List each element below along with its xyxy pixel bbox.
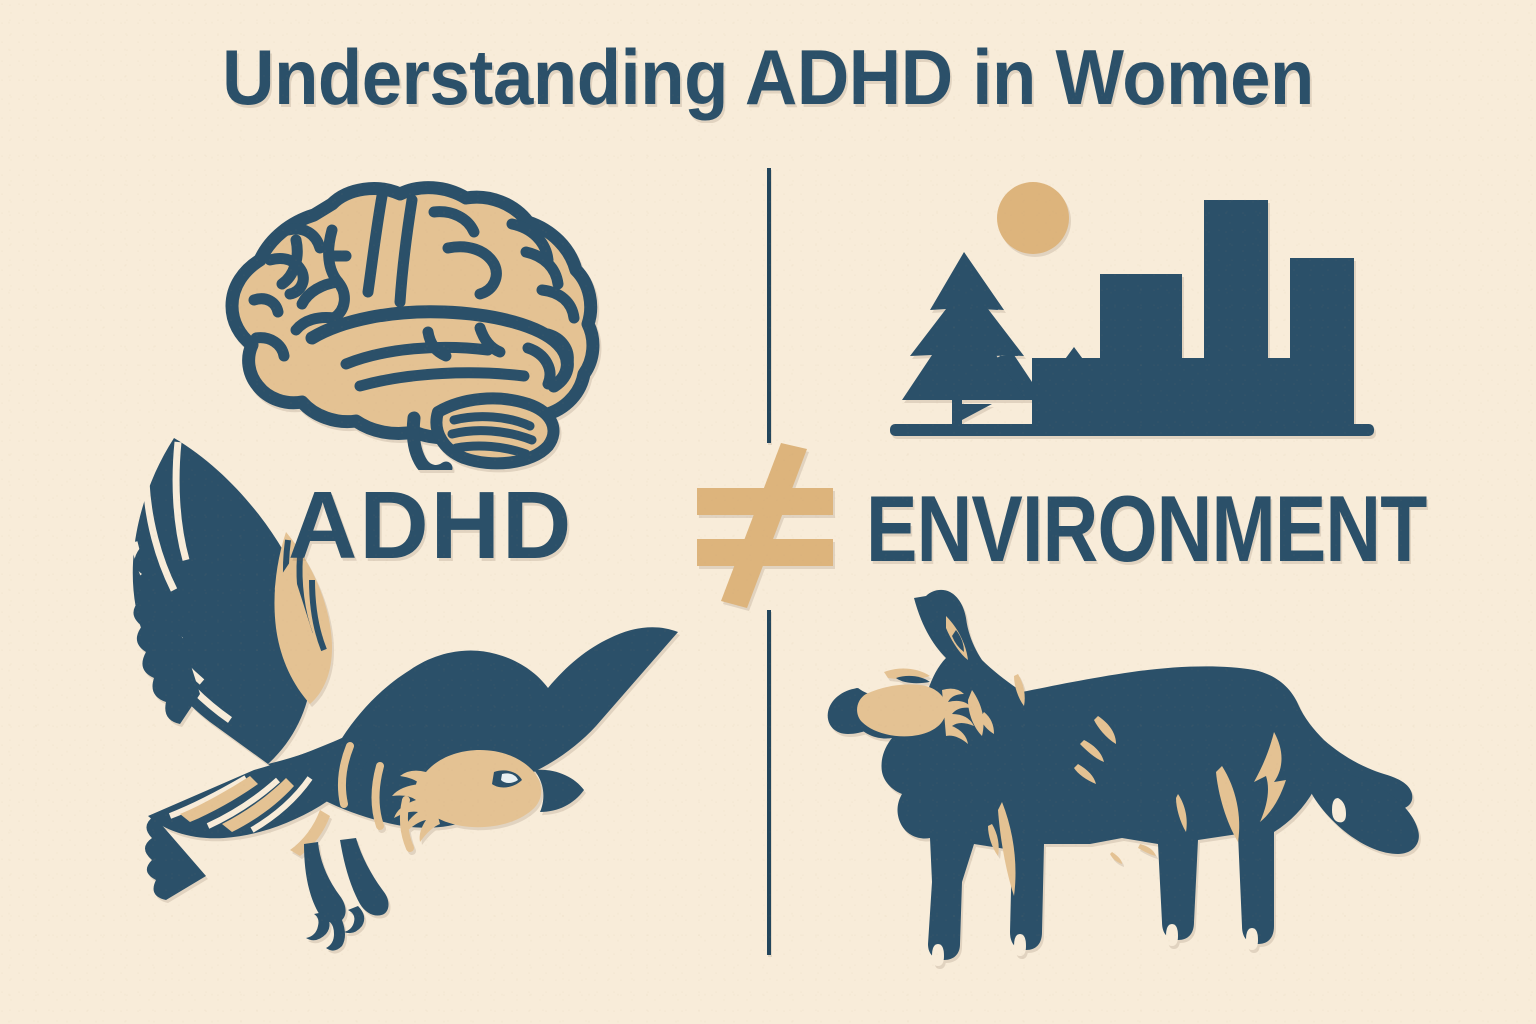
vertical-divider-bottom	[767, 610, 771, 955]
label-adhd: ADHD	[288, 478, 573, 574]
ground-line	[890, 424, 1374, 436]
pine-tree-icon	[902, 252, 1044, 430]
wolf-icon	[822, 582, 1442, 982]
poster-canvas: Understanding ADHD in Women	[0, 0, 1536, 1024]
vertical-divider-top	[767, 168, 771, 443]
environment-scene-icon	[884, 172, 1384, 452]
sun-icon	[997, 182, 1069, 254]
label-environment: ENVIRONMENT	[866, 482, 1427, 576]
page-title: Understanding ADHD in Women	[54, 38, 1482, 116]
not-equal-icon	[697, 443, 833, 608]
buildings-icon	[1032, 200, 1354, 432]
